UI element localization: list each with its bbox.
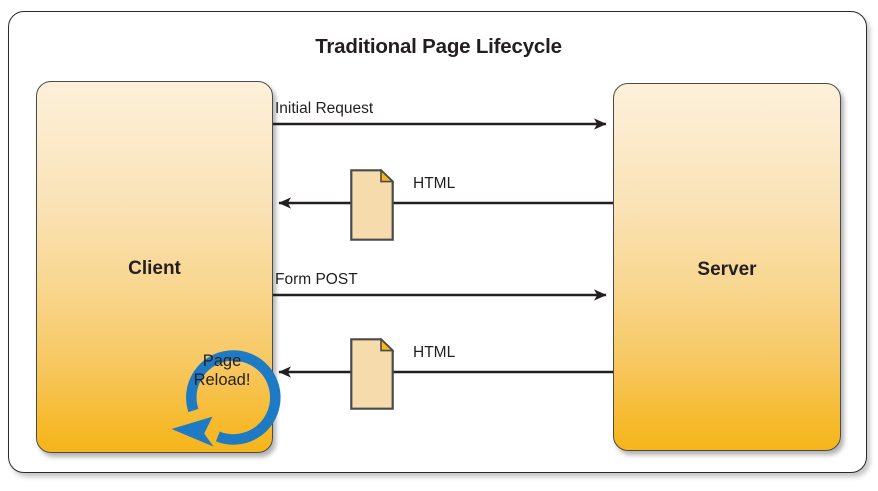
document-icon — [350, 169, 394, 241]
page-reload-annotation: Page Reload! — [160, 322, 284, 446]
document-icon — [350, 338, 394, 410]
node-client-label: Client — [37, 258, 272, 280]
page-reload-line-2: Reload! — [160, 371, 284, 390]
figure-frame: Traditional Page Lifecycle Client Server — [8, 11, 867, 473]
flow-label-html-response-1: HTML — [413, 175, 455, 193]
flow-label-initial-request: Initial Request — [275, 100, 373, 118]
node-server[interactable]: Server — [613, 83, 841, 451]
page-title: Traditional Page Lifecycle — [9, 35, 868, 59]
node-server-label: Server — [614, 259, 840, 281]
page-reload-label: Page Reload! — [160, 352, 284, 390]
page-reload-line-1: Page — [160, 352, 284, 371]
flow-label-form-post: Form POST — [275, 271, 358, 289]
flow-label-html-response-2: HTML — [413, 344, 455, 362]
